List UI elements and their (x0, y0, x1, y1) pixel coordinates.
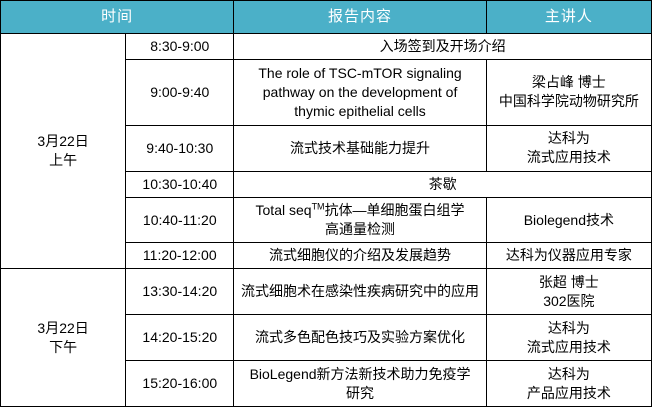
table-header: 时间 报告内容 主讲人 (1, 1, 652, 34)
table-row: 3月22日上午8:30-9:00入场签到及开场介绍 (1, 34, 652, 60)
speaker-cell: 梁占峰 博士中国科学院动物研究所 (486, 59, 651, 125)
session-content-line: thymic epithelial cells (238, 102, 481, 121)
speaker-cell: 张超 博士302医院 (486, 269, 651, 315)
header-speaker: 主讲人 (486, 1, 651, 34)
speaker-line: 产品应用技术 (491, 384, 647, 403)
session-content-line: 高通量检测 (238, 220, 481, 239)
time-slot-cell: 14:20-15:20 (126, 315, 234, 361)
speaker-line: 达科为仪器应用专家 (491, 246, 647, 265)
time-slot-cell: 8:30-9:00 (126, 34, 234, 60)
speaker-line: 流式应用技术 (491, 148, 647, 167)
session-content-line: 流式多色配色技巧及实验方案优化 (238, 328, 481, 347)
table-body: 3月22日上午8:30-9:00入场签到及开场介绍9:00-9:40The ro… (1, 34, 652, 407)
session-content-cell: BioLegend新方法新技术助力免疫学研究 (234, 361, 486, 407)
session-date-line: 上午 (5, 151, 121, 170)
session-content-line: 茶歇 (238, 175, 647, 194)
session-content-line: BioLegend新方法新技术助力免疫学 (238, 365, 481, 384)
session-content-cell: 茶歇 (234, 171, 652, 197)
speaker-cell: 达科为产品应用技术 (486, 361, 651, 407)
speaker-line: 流式应用技术 (491, 338, 647, 357)
session-date-line: 3月22日 (5, 319, 121, 338)
time-slot-cell: 9:00-9:40 (126, 59, 234, 125)
session-content-line: 研究 (238, 384, 481, 403)
speaker-line: Biolegend技术 (491, 211, 647, 230)
speaker-line: 达科为 (491, 365, 647, 384)
session-content-line: Total seqTM抗体—单细胞蛋白组学 (238, 201, 481, 220)
time-slot-cell: 10:30-10:40 (126, 171, 234, 197)
session-date-cell: 3月22日上午 (1, 34, 126, 269)
speaker-cell: Biolegend技术 (486, 197, 651, 243)
session-date-line: 下午 (5, 338, 121, 357)
speaker-cell: 达科为流式应用技术 (486, 315, 651, 361)
session-content-cell: The role of TSC-mTOR signalingpathway on… (234, 59, 486, 125)
speaker-line: 梁占峰 博士 (491, 73, 647, 92)
trademark-superscript: TM (312, 201, 325, 211)
speaker-cell: 达科为流式应用技术 (486, 125, 651, 171)
session-content-line: pathway on the development of (238, 83, 481, 102)
session-content-cell: 流式细胞术在感染性疾病研究中的应用 (234, 269, 486, 315)
header-row: 时间 报告内容 主讲人 (1, 1, 652, 34)
header-time: 时间 (1, 1, 234, 34)
session-content-cell: Total seqTM抗体—单细胞蛋白组学高通量检测 (234, 197, 486, 243)
time-slot-cell: 9:40-10:30 (126, 125, 234, 171)
speaker-line: 中国科学院动物研究所 (491, 92, 647, 111)
time-slot-cell: 13:30-14:20 (126, 269, 234, 315)
speaker-line: 张超 博士 (491, 273, 647, 292)
time-slot-cell: 15:20-16:00 (126, 361, 234, 407)
time-slot-cell: 11:20-12:00 (126, 243, 234, 269)
session-content-cell: 入场签到及开场介绍 (234, 34, 652, 60)
session-content-cell: 流式技术基础能力提升 (234, 125, 486, 171)
session-content-line: 流式技术基础能力提升 (238, 139, 481, 158)
session-date-cell: 3月22日下午 (1, 269, 126, 407)
session-content-line: 流式细胞术在感染性疾病研究中的应用 (238, 282, 481, 301)
speaker-cell: 达科为仪器应用专家 (486, 243, 651, 269)
session-content-line: 入场签到及开场介绍 (238, 37, 647, 56)
speaker-line: 302医院 (491, 292, 647, 311)
session-content-cell: 流式细胞仪的介绍及发展趋势 (234, 243, 486, 269)
session-date-line: 3月22日 (5, 132, 121, 151)
time-slot-cell: 10:40-11:20 (126, 197, 234, 243)
speaker-line: 达科为 (491, 319, 647, 338)
session-content-line: 流式细胞仪的介绍及发展趋势 (238, 246, 481, 265)
speaker-line: 达科为 (491, 129, 647, 148)
header-content: 报告内容 (234, 1, 486, 34)
agenda-table: 时间 报告内容 主讲人 3月22日上午8:30-9:00入场签到及开场介绍9:0… (0, 0, 652, 407)
table-row: 3月22日下午13:30-14:20流式细胞术在感染性疾病研究中的应用张超 博士… (1, 269, 652, 315)
session-content-cell: 流式多色配色技巧及实验方案优化 (234, 315, 486, 361)
session-content-line: The role of TSC-mTOR signaling (238, 64, 481, 83)
